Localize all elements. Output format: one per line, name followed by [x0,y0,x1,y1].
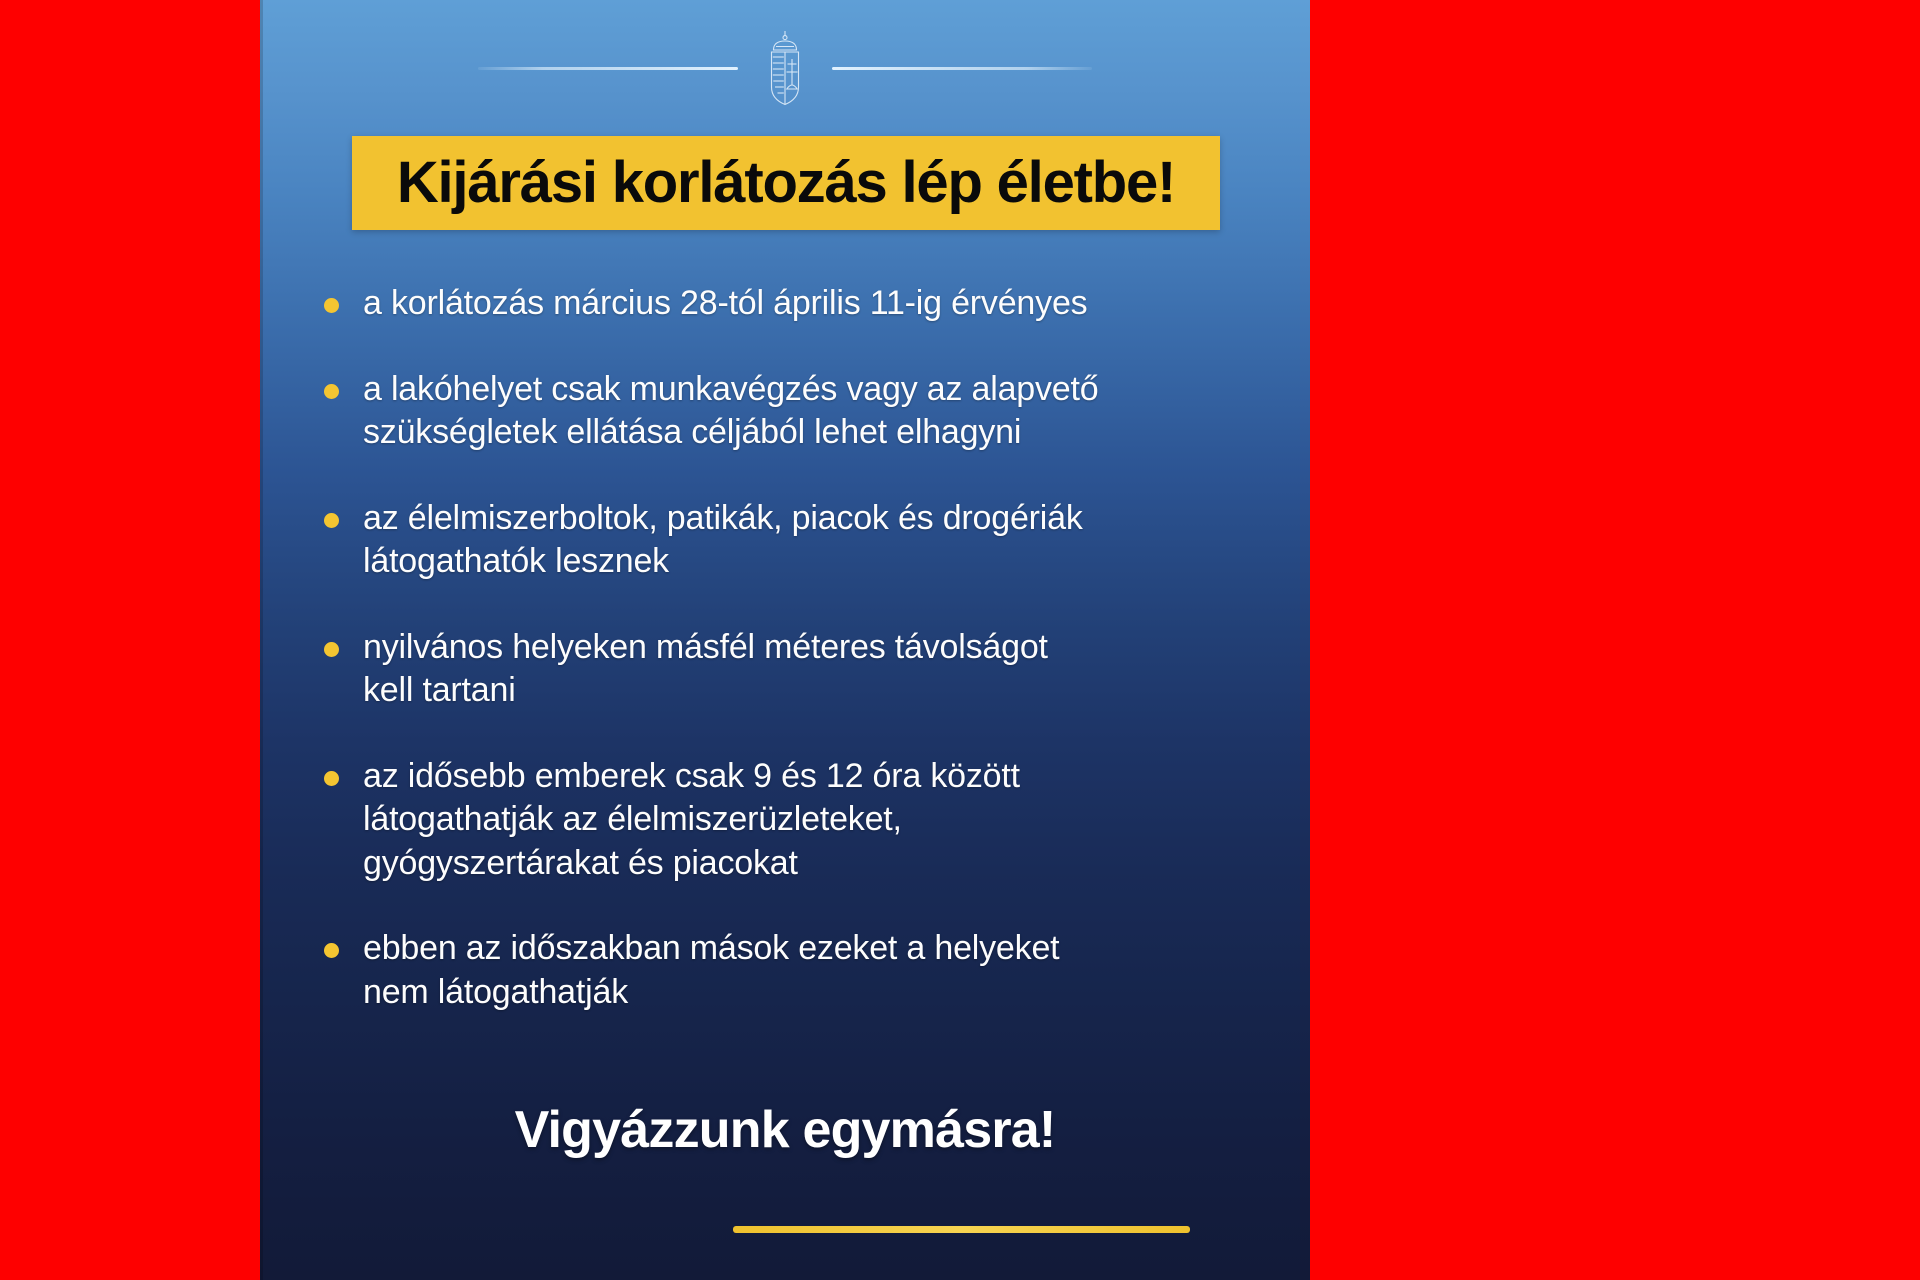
list-item-line: látogathatók lesznek [363,540,1083,584]
poster-header [260,28,1310,108]
list-item-line: kell tartani [363,669,1048,713]
list-item-text: a korlátozás március 28-tól április 11-i… [363,282,1087,326]
poster-card: Kijárási korlátozás lép életbe! a korlát… [260,0,1310,1280]
header-divider-left [478,67,738,70]
list-item: a lakóhelyet csak munkavégzés vagy az al… [316,368,1276,455]
list-item-text: az idősebb emberek csak 9 és 12 óra közö… [363,755,1020,886]
list-item: ebben az időszakban mások ezeket a helye… [316,927,1276,1014]
title-banner: Kijárási korlátozás lép életbe! [352,136,1220,230]
bullet-dot-icon [324,298,339,313]
bullet-dot-icon [324,513,339,528]
list-item-line: ebben az időszakban mások ezeket a helye… [363,927,1059,971]
list-item-line: látogathatják az élelmiszerüzleteket, [363,798,1020,842]
list-item-line: nyilvános helyeken másfél méteres távols… [363,626,1048,670]
bullet-dot-icon [324,384,339,399]
list-item-line: az élelmiszerboltok, patikák, piacok és … [363,497,1083,541]
list-item-line: nem látogathatják [363,971,1059,1015]
list-item: az idősebb emberek csak 9 és 12 óra közö… [316,755,1276,886]
list-item-text: az élelmiszerboltok, patikák, piacok és … [363,497,1083,584]
bullet-dot-icon [324,771,339,786]
list-item-text: ebben az időszakban mások ezeket a helye… [363,927,1059,1014]
bullet-dot-icon [324,642,339,657]
bullet-list: a korlátozás március 28-tól április 11-i… [316,282,1276,1056]
list-item: a korlátozás március 28-tól április 11-i… [316,282,1276,326]
header-divider-right [832,67,1092,70]
hungarian-coat-of-arms-icon [766,29,804,107]
list-item-line: az idősebb emberek csak 9 és 12 óra közö… [363,755,1020,799]
page-title: Kijárási korlátozás lép életbe! [397,154,1175,212]
list-item-line: a lakóhelyet csak munkavégzés vagy az al… [363,368,1098,412]
list-item-line: gyógyszertárakat és piacokat [363,842,1020,886]
list-item-text: nyilvános helyeken másfél méteres távols… [363,626,1048,713]
list-item: nyilvános helyeken másfél méteres távols… [316,626,1276,713]
list-item: az élelmiszerboltok, patikák, piacok és … [316,497,1276,584]
list-item-line: szükségletek ellátása céljából lehet elh… [363,411,1098,455]
bullet-dot-icon [324,943,339,958]
footer-divider [733,1226,1190,1233]
list-item-line: a korlátozás március 28-tól április 11-i… [363,282,1087,326]
list-item-text: a lakóhelyet csak munkavégzés vagy az al… [363,368,1098,455]
slogan-text: Vigyázzunk egymásra! [260,1100,1310,1160]
